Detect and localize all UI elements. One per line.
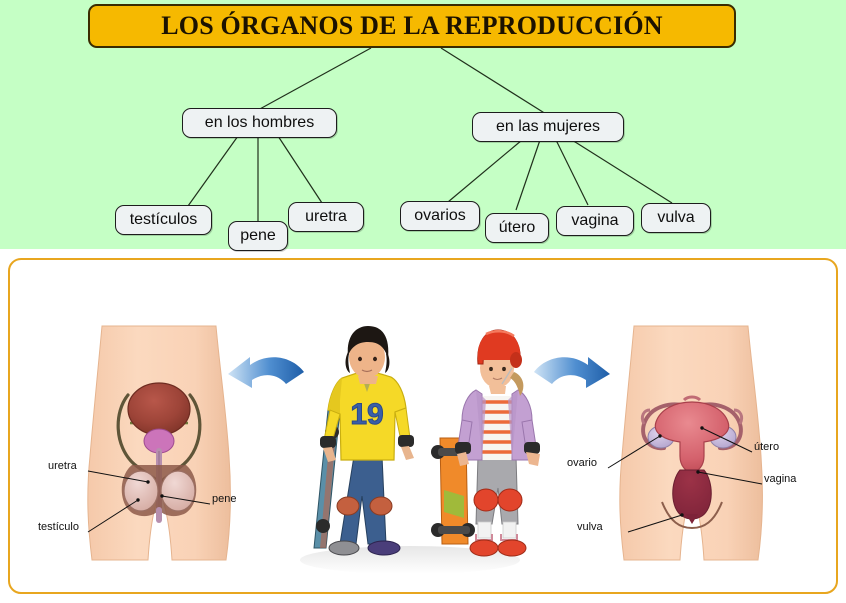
node-label: pene [240, 227, 276, 245]
node-label: vulva [657, 209, 694, 227]
node-pene[interactable]: pene [228, 221, 288, 251]
node-label: en las mujeres [496, 118, 600, 136]
arrow-left-icon [228, 357, 304, 388]
node-testiculos[interactable]: testículos [115, 205, 212, 235]
node-label: uretra [305, 208, 347, 226]
boy-figure: 19 [314, 326, 414, 555]
illustration-panel: 19 [8, 258, 838, 594]
anat-label-vagina: vagina [764, 473, 796, 485]
node-label: ovarios [414, 207, 466, 225]
node-en-los-hombres[interactable]: en los hombres [182, 108, 337, 138]
girl-figure [431, 330, 540, 556]
anat-label-testiculo: testículo [38, 521, 79, 533]
reproductive-organs-illustration: 19 [10, 260, 836, 592]
node-uretra[interactable]: uretra [288, 202, 364, 232]
children-photograph: 19 [300, 326, 540, 574]
node-label: vagina [571, 212, 618, 230]
page-title: LOS ÓRGANOS DE LA REPRODUCCIÓN [161, 13, 663, 39]
concept-map-region: LOS ÓRGANOS DE LA REPRODUCCIÓN en los ho… [0, 0, 846, 249]
anat-label-vulva: vulva [577, 521, 603, 533]
node-utero[interactable]: útero [485, 213, 549, 243]
jersey-number: 19 [350, 398, 383, 431]
node-en-las-mujeres[interactable]: en las mujeres [472, 112, 624, 142]
node-vulva[interactable]: vulva [641, 203, 711, 233]
node-label: en los hombres [205, 114, 314, 132]
anat-label-ovario: ovario [567, 457, 597, 469]
arrow-right-icon [534, 357, 610, 388]
female-anatomy-figure [608, 326, 762, 560]
anat-label-pene: pene [212, 493, 236, 505]
node-vagina[interactable]: vagina [556, 206, 634, 236]
diagram-title-box: LOS ÓRGANOS DE LA REPRODUCCIÓN [88, 4, 736, 48]
node-ovarios[interactable]: ovarios [400, 201, 480, 231]
node-label: testículos [130, 211, 198, 229]
anat-label-utero: útero [754, 441, 779, 453]
anat-label-uretra: uretra [48, 460, 77, 472]
node-label: útero [499, 219, 535, 237]
male-anatomy-figure [88, 326, 231, 560]
